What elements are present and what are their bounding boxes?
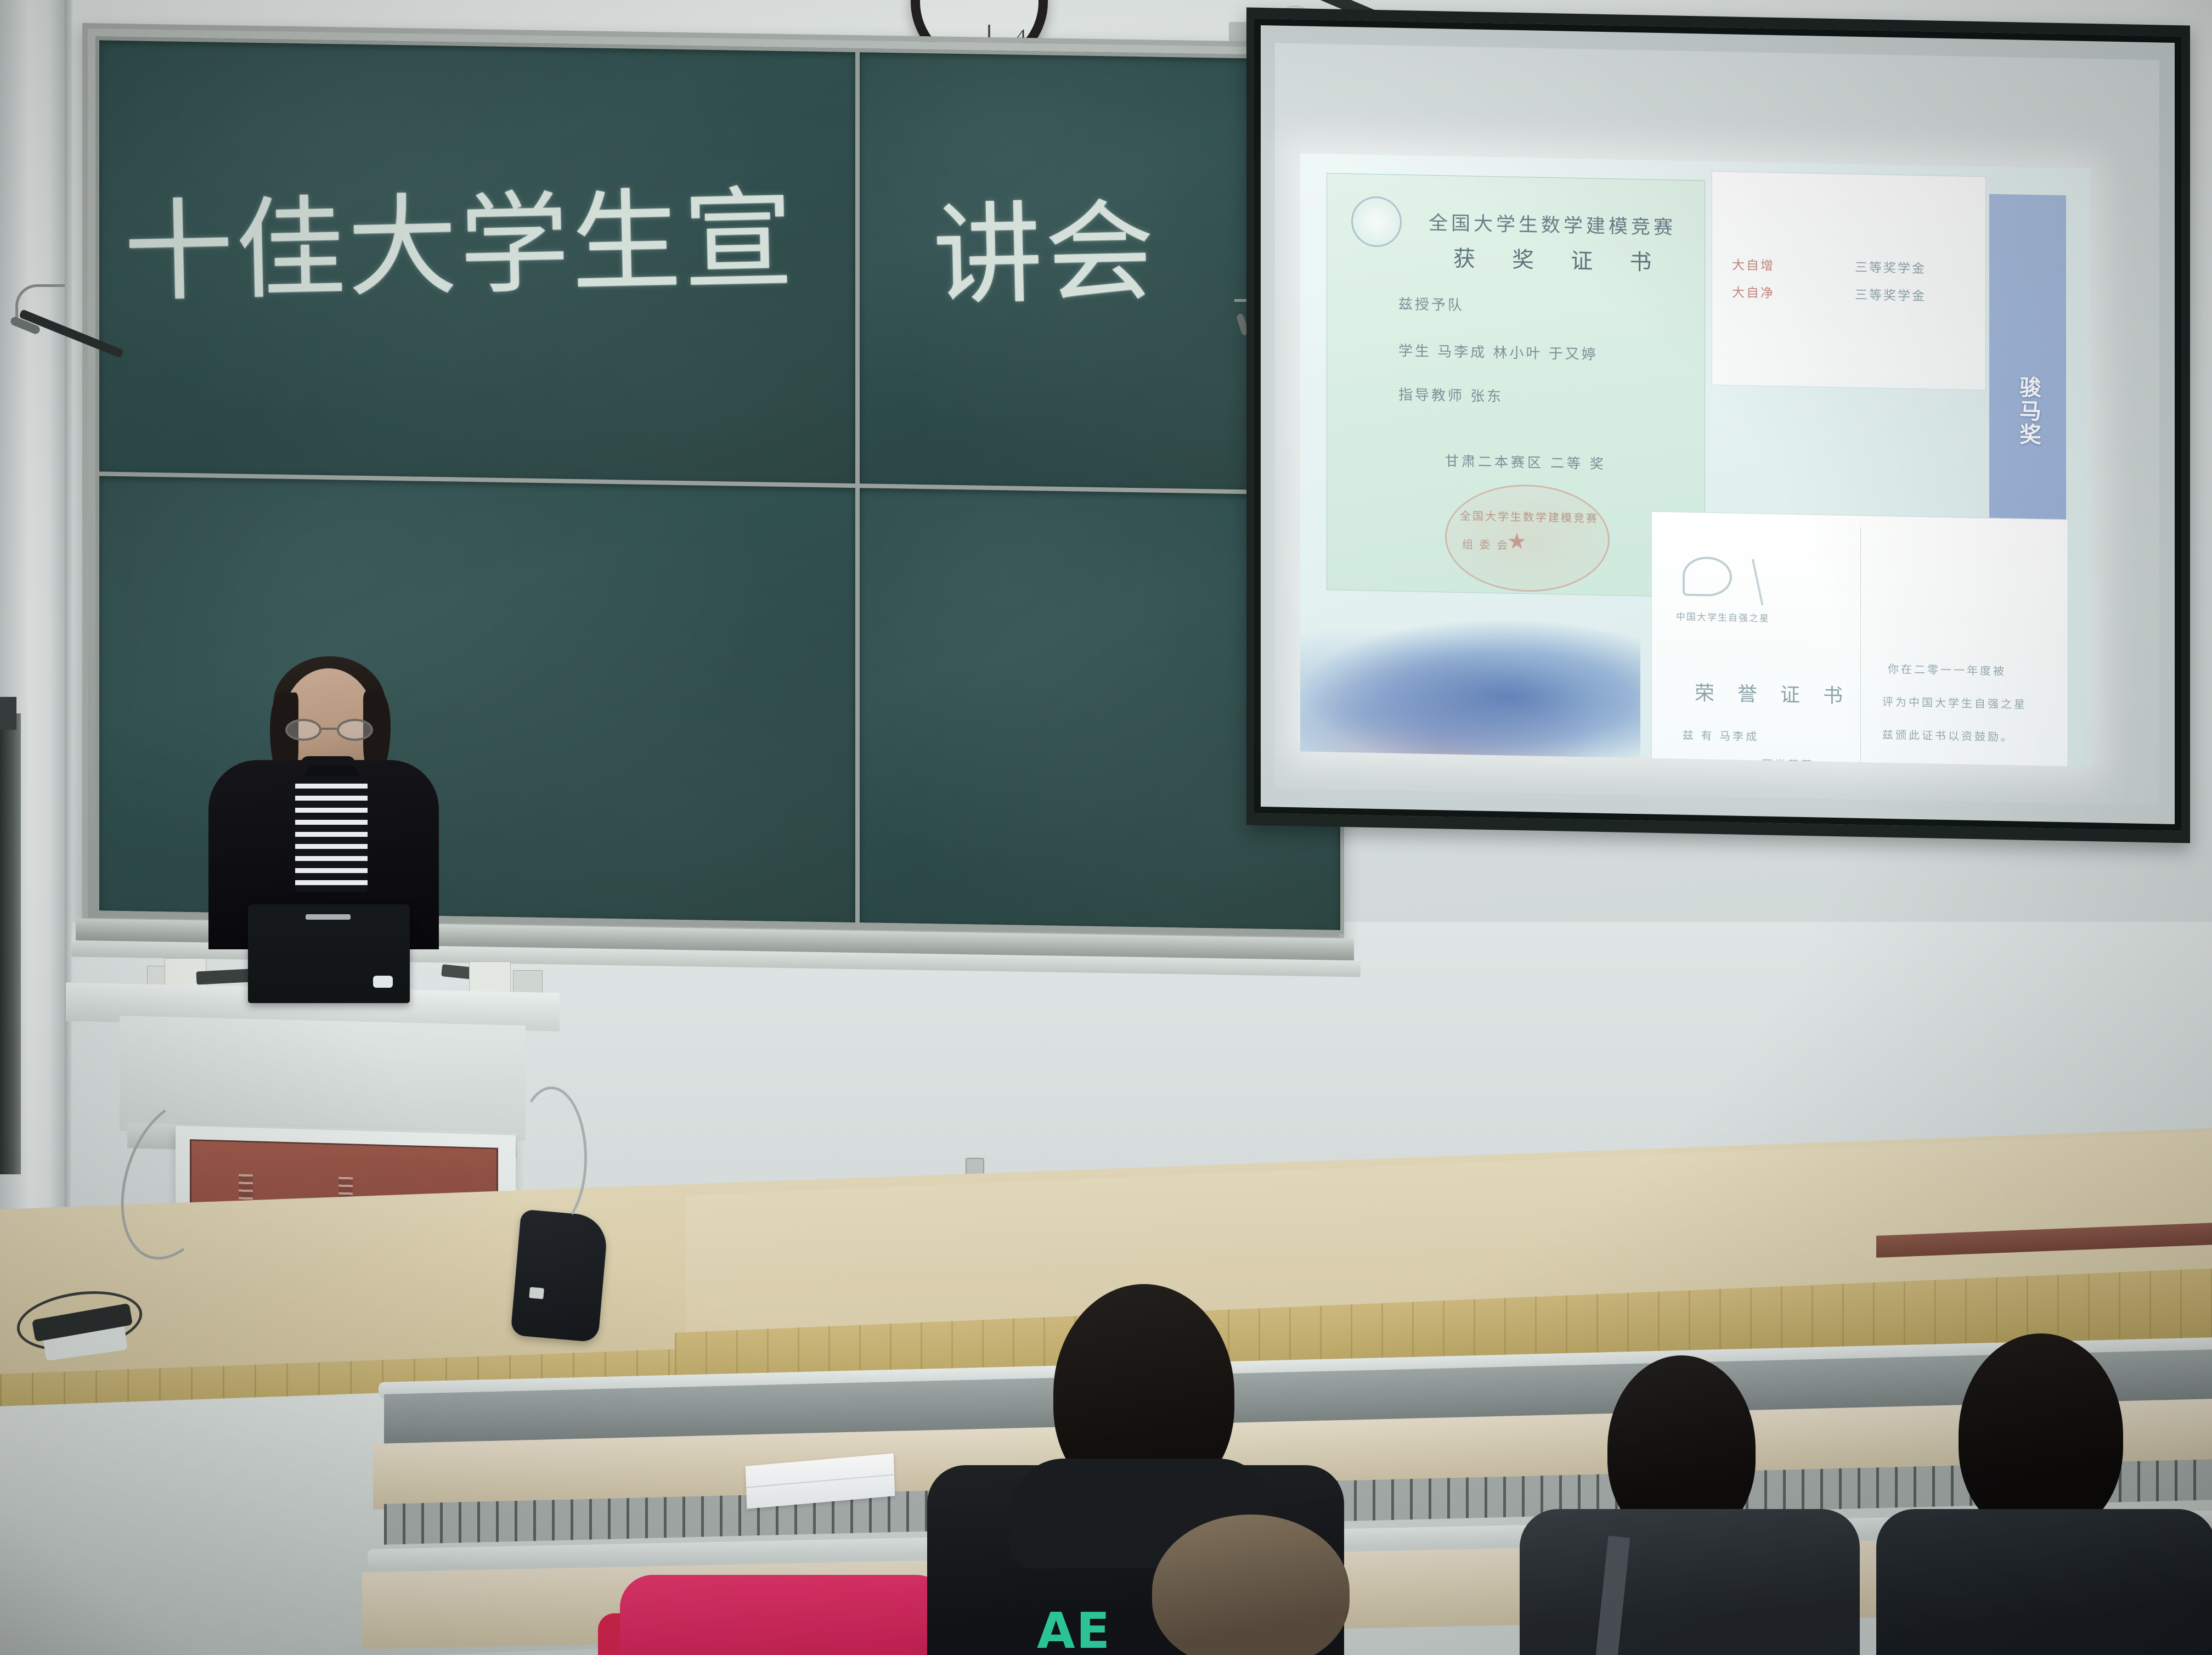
eyeglass-lens-right bbox=[337, 719, 373, 741]
certificate-white-row4: 三等奖学金 bbox=[1855, 284, 1926, 304]
certificate-green-line3: 兹授予队 bbox=[1398, 293, 1464, 314]
student-right-inner bbox=[1520, 1355, 1860, 1655]
eyeglasses-icon bbox=[285, 719, 373, 741]
certificate-logo-icon bbox=[1683, 556, 1732, 597]
certificate-green: 全国大学生数学建模竞赛 获 奖 证 书 兹授予队 学生 马李成 林小叶 于又婷 … bbox=[1327, 173, 1705, 597]
projection-screen: 全国大学生数学建模竞赛 获 奖 证 书 兹授予队 学生 马李成 林小叶 于又婷 … bbox=[1246, 7, 2190, 843]
certificate-left-line2: 同学荣获 bbox=[1762, 756, 1814, 767]
student-right-outer bbox=[1876, 1333, 2212, 1655]
certificate-caption: 中国大学生自强之星 bbox=[1676, 609, 1770, 624]
student-jacket bbox=[1876, 1509, 2212, 1655]
banner-blue: 骏马奖 bbox=[1989, 194, 2066, 536]
paper-fold-line bbox=[746, 1474, 894, 1488]
student-front-center-lower bbox=[1108, 1515, 1393, 1655]
chalk-box[interactable] bbox=[469, 961, 511, 994]
banner-vertical-text: 骏马奖 bbox=[2012, 375, 2044, 447]
student-head bbox=[1152, 1515, 1350, 1655]
student-pink-jacket bbox=[620, 1575, 949, 1655]
certificate-right-line1: 你在二零一一年度被 bbox=[1888, 660, 2006, 678]
presenter-striped-shirt bbox=[295, 776, 368, 892]
certificate-white-row2: 大自净 bbox=[1732, 282, 1775, 301]
stamp-star-icon: ★ bbox=[1507, 529, 1527, 555]
certificate-red-stamp: 全国大学生数学建模竞赛 ★ 组 委 会 bbox=[1445, 483, 1610, 593]
backpack-on-stage[interactable] bbox=[510, 1209, 608, 1342]
student-jacket bbox=[1520, 1509, 1860, 1655]
chalkboard-headline-right: 讲会 bbox=[931, 162, 1158, 326]
stamp-line2: 组 委 会 bbox=[1462, 536, 1509, 553]
laptop-hinge-icon bbox=[306, 914, 351, 920]
certificate-flame-icon bbox=[1752, 552, 1797, 605]
lecture-hall-photo: 4 5 6 7 十佳大学生宣 讲会 bbox=[0, 0, 2212, 1655]
projection-screen-border: 全国大学生数学建模竞赛 获 奖 证 书 兹授予队 学生 马李成 林小叶 于又婷 … bbox=[1254, 19, 2181, 831]
student-head bbox=[1959, 1333, 2123, 1536]
certificate-white-row1: 大自增 bbox=[1732, 254, 1775, 273]
door-recess bbox=[0, 713, 21, 1174]
laptop-on-podium[interactable] bbox=[248, 904, 410, 1003]
certificate-left-line1: 兹 有 马李成 bbox=[1683, 727, 1759, 744]
certificate-right-line3: 兹颁此证书以资鼓励。 bbox=[1882, 726, 2014, 745]
projected-slide: 全国大学生数学建模竞赛 获 奖 证 书 兹授予队 学生 马李成 林小叶 于又婷 … bbox=[1300, 153, 2090, 767]
slide-photo-decoration bbox=[1300, 614, 1640, 763]
certificate-divider bbox=[1860, 527, 1861, 767]
projection-screen-surface: 全国大学生数学建模竞赛 获 奖 证 书 兹授予队 学生 马李成 林小叶 于又婷 … bbox=[1275, 43, 2159, 805]
eyeglass-bridge bbox=[321, 728, 337, 730]
certificate-white-top: 大自增 大自净 三等奖学金 三等奖学金 bbox=[1712, 171, 1986, 391]
certificate-white-row3: 三等奖学金 bbox=[1855, 257, 1926, 277]
certificate-right-line2: 评为中国大学生自强之星 bbox=[1882, 693, 2027, 712]
certificate-green-line2: 获 奖 证 书 bbox=[1453, 241, 1667, 277]
door-recess-upper bbox=[0, 697, 16, 730]
certificate-green-line1: 全国大学生数学建模竞赛 bbox=[1429, 207, 1676, 240]
backpack-tag bbox=[529, 1287, 544, 1299]
power-cable-right bbox=[516, 1087, 587, 1229]
student-pink-garment bbox=[620, 1575, 949, 1655]
chalkboard-headline-left: 十佳大学生宣 bbox=[122, 149, 797, 323]
certificate-green-line4: 学生 马李成 林小叶 于又婷 bbox=[1398, 340, 1598, 364]
certificate-white-bottom: 中国大学生自强之星 荣 誉 证 书 兹 有 马李成 同学荣获 自 强 指导教师 … bbox=[1651, 511, 2068, 767]
certificate-green-line6: 甘肃二本赛区 二等 奖 bbox=[1445, 450, 1606, 473]
certificate-title: 荣 誉 证 书 bbox=[1695, 677, 1852, 708]
eyeglass-lens-left bbox=[285, 719, 321, 741]
laptop-trackpad-icon bbox=[373, 976, 393, 988]
hoodie-logo-text: AE bbox=[1037, 1602, 1111, 1655]
certificate-green-line5: 指导教师 张东 bbox=[1398, 384, 1503, 406]
stamp-line1: 全国大学生数学建模竞赛 bbox=[1460, 507, 1599, 526]
certificate-seal-icon bbox=[1351, 196, 1402, 247]
